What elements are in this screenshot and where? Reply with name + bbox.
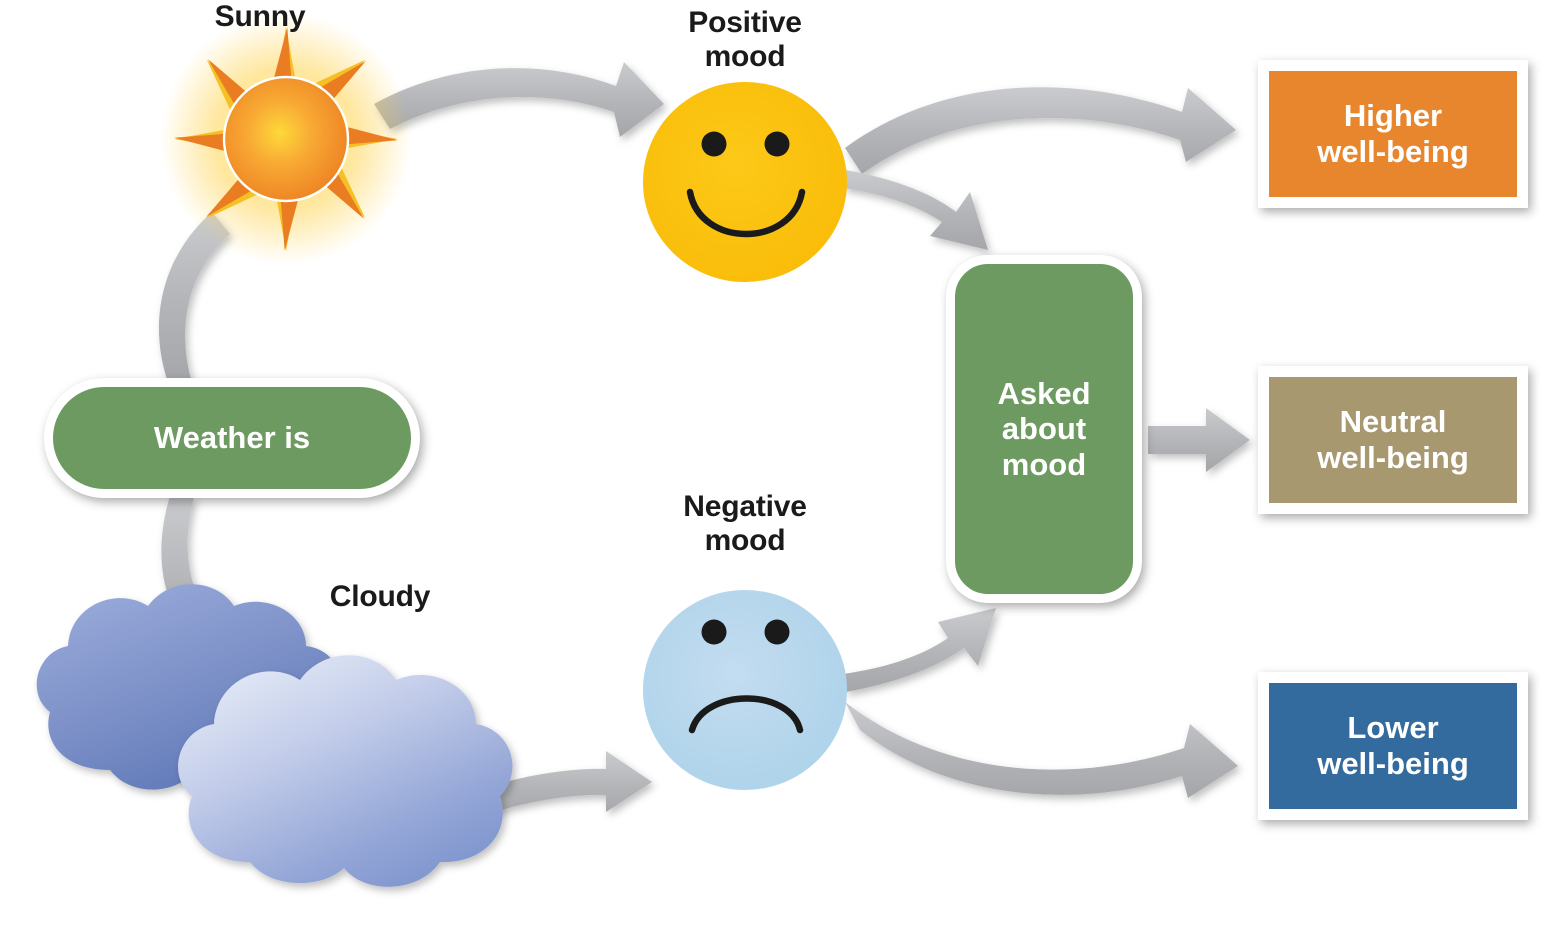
node-weather-is[interactable]: Weather is (44, 378, 420, 498)
sun-icon (160, 13, 412, 265)
label-cloudy: Cloudy (272, 580, 488, 614)
edge-negative-to-asked (843, 608, 996, 692)
cloud-sun-icon (37, 584, 513, 887)
label-sunny: Sunny (160, 0, 360, 34)
frowny-face-icon (643, 590, 847, 790)
smiley-face-icon (643, 82, 847, 282)
edge-negative-to-lower (845, 702, 1238, 798)
edge-positive-to-asked (843, 170, 988, 250)
cloud-back (37, 584, 341, 793)
cloud-front (178, 655, 512, 887)
label-negative-mood: Negative mood (645, 490, 845, 557)
label-positive-mood: Positive mood (645, 6, 845, 73)
diagram-canvas: Sunny Cloudy Positive mood Negative mood… (0, 0, 1559, 925)
edge-positive-to-higher (845, 87, 1236, 174)
edge-weather-to-sunny (159, 212, 230, 383)
edge-asked-to-neutral (1148, 408, 1250, 472)
node-asked-about-mood[interactable]: Asked about mood (946, 255, 1142, 603)
node-higher-well-being[interactable]: Higher well-being (1258, 60, 1528, 208)
edge-sunny-to-positive (374, 62, 664, 137)
edge-weather-to-cloudy (161, 496, 233, 668)
node-neutral-well-being[interactable]: Neutral well-being (1258, 366, 1528, 514)
node-lower-well-being[interactable]: Lower well-being (1258, 672, 1528, 820)
edge-cloudy-to-negative (470, 751, 652, 818)
